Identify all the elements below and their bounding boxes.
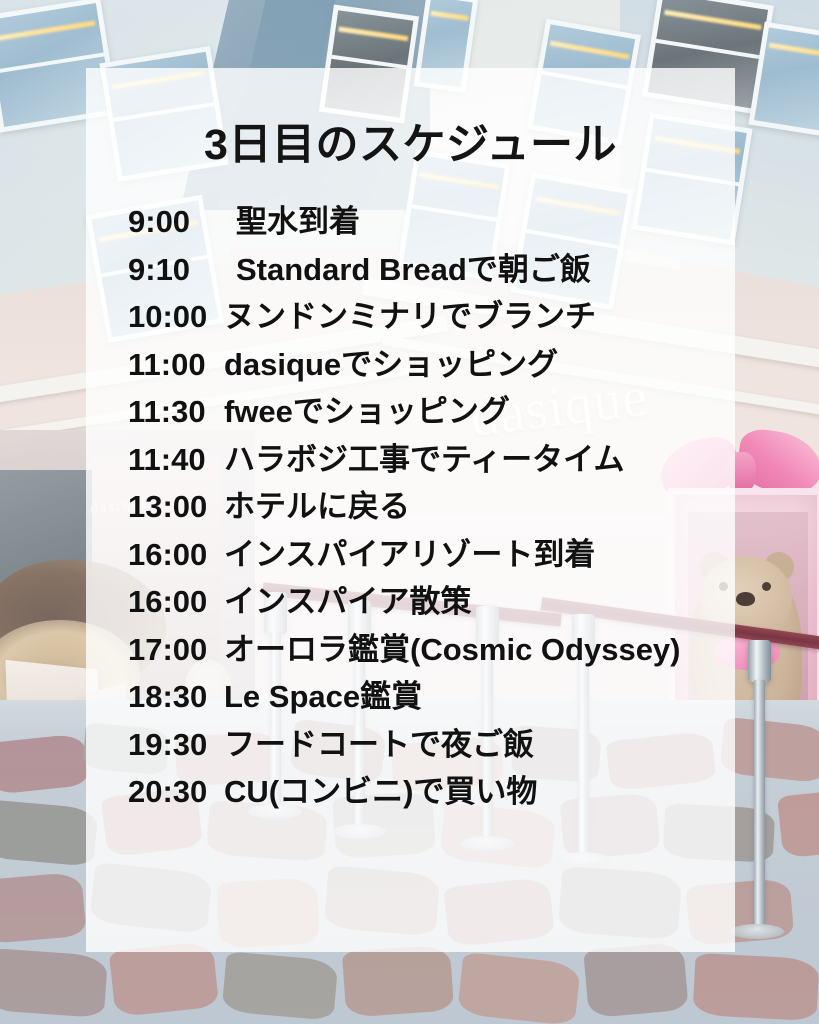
schedule-row: 17:00オーロラ鑑賞(Cosmic Odyssey)	[128, 624, 735, 672]
schedule-task: オーロラ鑑賞(Cosmic Odyssey)	[224, 624, 681, 669]
schedule-time: 16:00	[128, 537, 224, 573]
schedule-time: 17:00	[128, 632, 224, 668]
schedule-row: 18:30Le Space鑑賞	[128, 671, 735, 719]
screenshot-root: dasique dasique RD HOKKING	[0, 0, 819, 1024]
schedule-time: 18:30	[128, 679, 224, 715]
stanchion-base	[730, 924, 784, 939]
schedule-list: 9:00聖水到着9:10Standard Breadで朝ご飯10:00ヌンドンミ…	[128, 196, 735, 814]
schedule-task: Standard Breadで朝ご飯	[224, 244, 591, 289]
schedule-time: 11:30	[128, 394, 224, 430]
schedule-task: 聖水到着	[224, 196, 360, 241]
schedule-row: 9:10Standard Breadで朝ご飯	[128, 244, 735, 292]
schedule-row: 10:00ヌンドンミナリでブランチ	[128, 291, 735, 339]
schedule-time: 9:00	[128, 204, 224, 240]
schedule-time: 11:00	[128, 347, 224, 383]
schedule-row: 20:30CU(コンビニ)で買い物	[128, 766, 735, 814]
schedule-time: 19:30	[128, 727, 224, 763]
schedule-time: 16:00	[128, 584, 224, 620]
schedule-task: ハラボジ工事でティータイム	[224, 434, 625, 479]
page-title: 3日目のスケジュール	[86, 110, 735, 172]
schedule-task: CU(コンビニ)で買い物	[224, 766, 537, 811]
schedule-row: 11:30fweeでショッピング	[128, 386, 735, 434]
schedule-row: 9:00聖水到着	[128, 196, 735, 244]
schedule-row: 16:00インスパイアリゾート到着	[128, 529, 735, 577]
schedule-row: 13:00ホテルに戻る	[128, 481, 735, 529]
schedule-row: 19:30フードコートで夜ご飯	[128, 719, 735, 767]
schedule-task: ホテルに戻る	[224, 481, 410, 526]
stanchion-post	[754, 680, 765, 930]
schedule-card: 3日目のスケジュール 9:00聖水到着9:10Standard Breadで朝ご…	[86, 68, 735, 952]
schedule-row: 16:00インスパイア散策	[128, 576, 735, 624]
stanchion-head	[748, 640, 771, 682]
schedule-task: インスパイアリゾート到着	[224, 529, 595, 574]
schedule-task: インスパイア散策	[224, 576, 471, 621]
schedule-time: 10:00	[128, 299, 224, 335]
schedule-time: 11:40	[128, 442, 224, 478]
schedule-row: 11:00dasiqueでショッピング	[128, 339, 735, 387]
teddy-eye-right	[762, 582, 771, 591]
schedule-time: 9:10	[128, 252, 224, 288]
schedule-task: Le Space鑑賞	[224, 671, 422, 716]
schedule-time: 20:30	[128, 774, 224, 810]
schedule-task: dasiqueでショッピング	[224, 339, 558, 384]
schedule-task: ヌンドンミナリでブランチ	[224, 291, 596, 336]
schedule-row: 11:40ハラボジ工事でティータイム	[128, 434, 735, 482]
schedule-task: fweeでショッピング	[224, 386, 510, 431]
schedule-time: 13:00	[128, 489, 224, 525]
schedule-task: フードコートで夜ご飯	[224, 719, 534, 764]
teddy-nose	[736, 592, 755, 606]
